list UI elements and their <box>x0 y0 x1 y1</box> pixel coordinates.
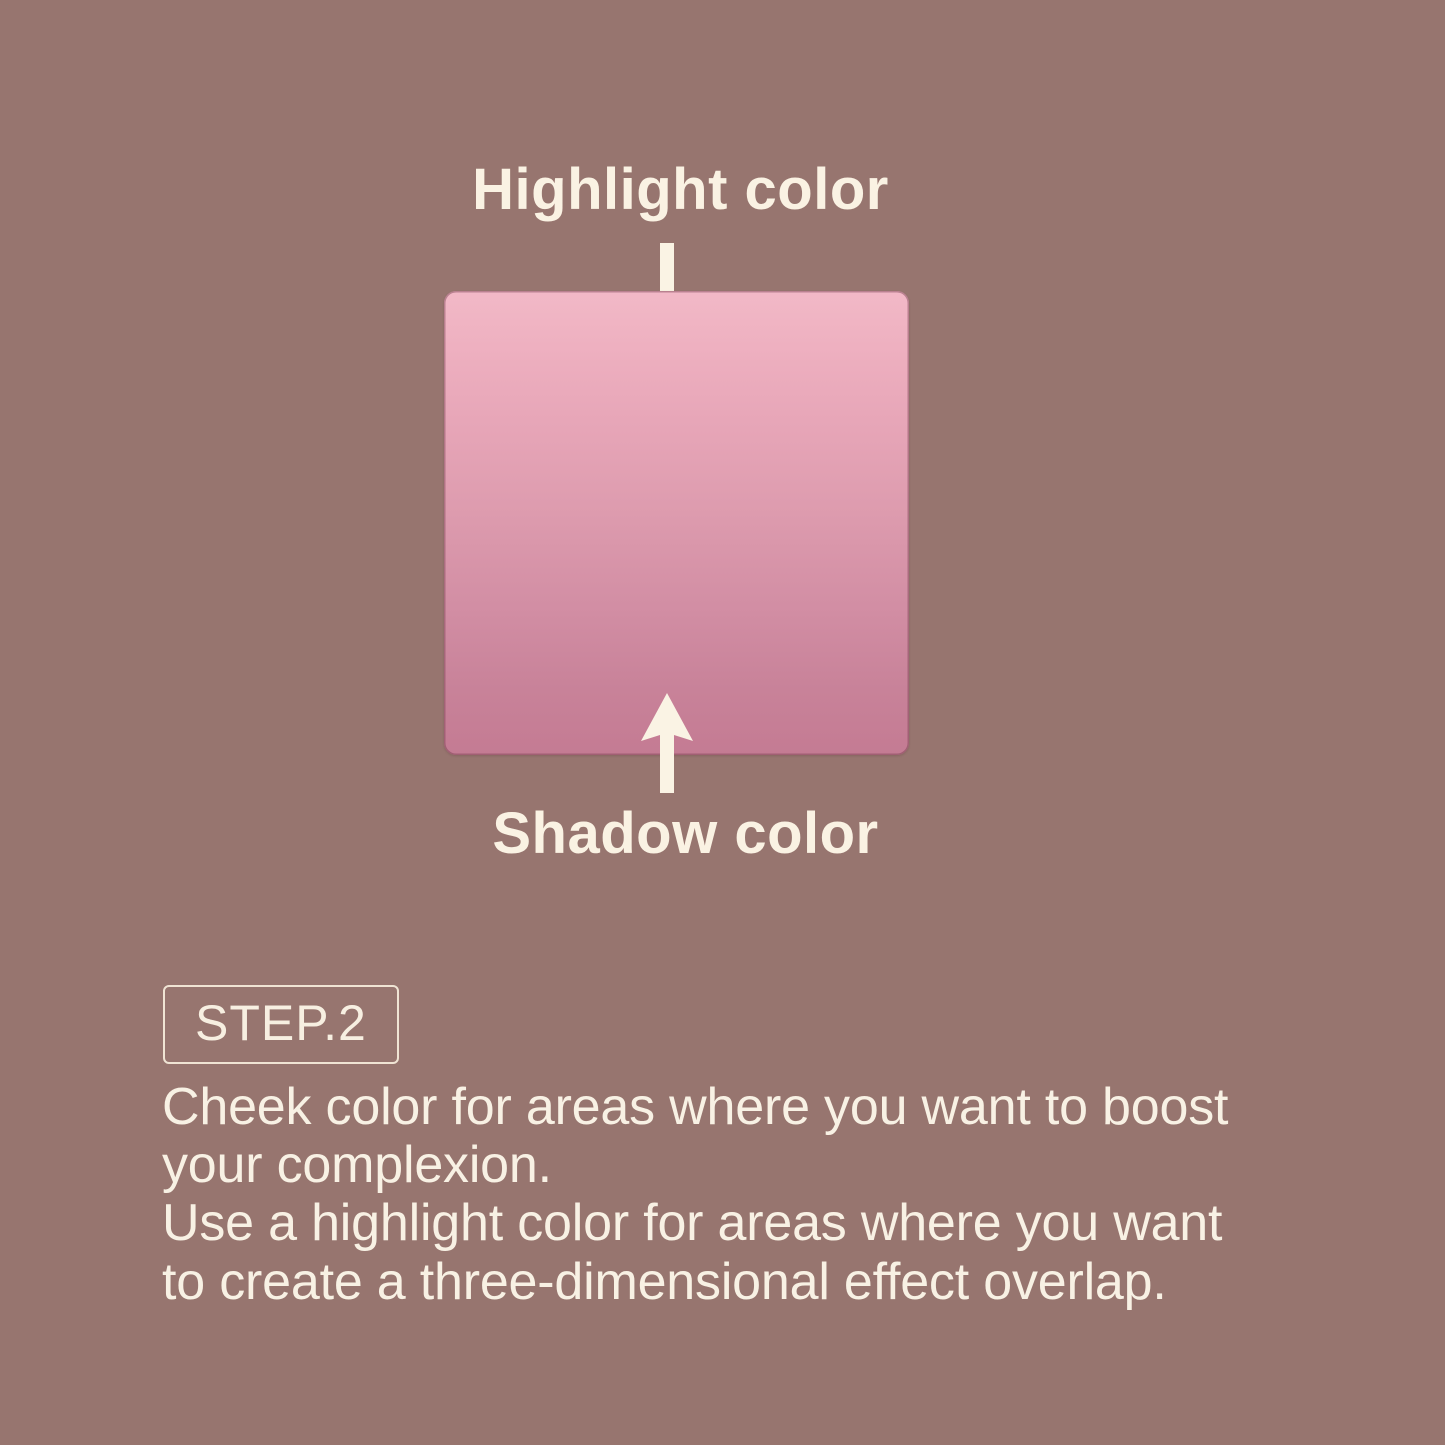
cheek-color-gradient-swatch <box>444 291 909 755</box>
highlight-color-label: Highlight color <box>0 156 1403 223</box>
step-description: Cheek color for areas where you want to … <box>162 1078 1322 1311</box>
description-line-3: Use a highlight color for areas where yo… <box>162 1194 1322 1252</box>
description-line-2: your complexion. <box>162 1136 1322 1194</box>
description-line-4: to create a three-dimensional effect ove… <box>162 1253 1322 1311</box>
shadow-color-label: Shadow color <box>0 800 1408 867</box>
step-badge: STEP.2 <box>163 985 399 1064</box>
arrow-up-icon <box>635 693 699 793</box>
description-line-1: Cheek color for areas where you want to … <box>162 1078 1322 1136</box>
product-instruction-graphic: Highlight color Shadow color STEP.2 Chee… <box>0 0 1445 1445</box>
